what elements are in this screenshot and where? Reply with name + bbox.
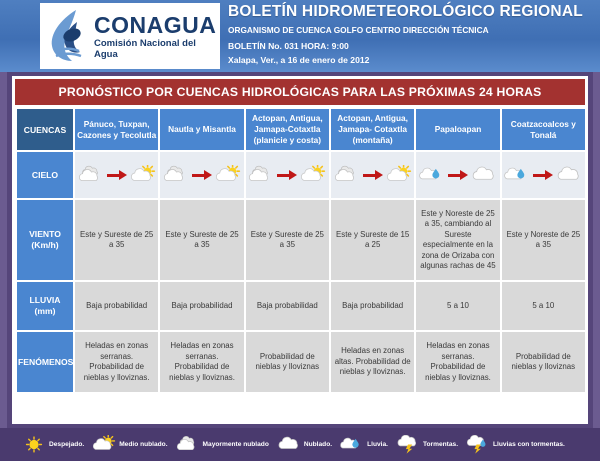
partly-sunny-icon	[386, 165, 412, 185]
cielo-cell-4	[331, 152, 414, 198]
row-lluvia: LLUVIA (mm) Baja probabilidad Baja proba…	[17, 282, 585, 330]
column-header-actopan-montana: Actopan, Antigua, Jamapa- Cotaxtla (mont…	[331, 109, 414, 150]
row-label-cielo: CIELO	[17, 152, 73, 198]
logo-title: CONAGUA	[94, 13, 220, 37]
transition-arrow-icon	[277, 170, 297, 180]
cielo-cell-2	[160, 152, 243, 198]
sky-pair-5	[418, 165, 497, 185]
mostly-cloudy-icon	[334, 165, 360, 185]
transition-arrow-icon	[533, 170, 553, 180]
fenomenos-cell-1: Heladas en zonas serranas. Probabilidad …	[75, 332, 158, 392]
rain-icon	[504, 165, 530, 185]
cielo-cell-3	[246, 152, 329, 198]
lluvia-cell-6: 5 a 10	[502, 282, 585, 330]
lluvia-cell-4: Baja probabilidad	[331, 282, 414, 330]
bulletin-number-line: BOLETÍN No. 031 HORA: 9:00	[228, 40, 596, 53]
lluvia-cell-3: Baja probabilidad	[246, 282, 329, 330]
conagua-logo: CONAGUA Comisión Nacional del Agua	[40, 3, 220, 69]
lluvia-cell-5: 5 a 10	[416, 282, 499, 330]
right-purple-edge	[593, 72, 600, 428]
row-label-viento: VIENTO (Km/h)	[17, 200, 73, 280]
legend-item-thunderstorm: Tormentas.	[396, 435, 458, 454]
partly-sunny-icon	[300, 165, 326, 185]
forecast-panel: PRONÓSTICO POR CUENCAS HIDROLÓGICAS PARA…	[12, 76, 588, 424]
legend-label: Mayormente nublado	[203, 441, 269, 448]
legend-item-rain-thunderstorm: Lluvias con tormentas.	[466, 435, 565, 454]
row-cielo: CIELO	[17, 152, 585, 198]
cloudy-icon	[556, 165, 582, 185]
legend-label: Nublado.	[304, 441, 332, 448]
fenomenos-cell-4: Heladas en zonas altas. Probabilidad de …	[331, 332, 414, 392]
thunderstorm-icon	[396, 435, 420, 454]
sky-pair-1	[77, 165, 156, 185]
legend-bar: Despejado.Medio nublado.Mayormente nubla…	[0, 428, 600, 461]
row-label-viento-line1: VIENTO	[18, 229, 72, 240]
forecast-table: CUENCAS Pánuco, Tuxpan, Cazones y Tecolu…	[15, 107, 587, 394]
logo-subtitle: Comisión Nacional del Agua	[94, 38, 220, 60]
row-viento: VIENTO (Km/h) Este y Sureste de 25 a 35 …	[17, 200, 585, 280]
sunny-icon	[22, 435, 46, 454]
legend-label: Lluvias con tormentas.	[493, 441, 565, 448]
legend-label: Lluvia.	[367, 441, 388, 448]
sky-pair-2	[162, 165, 241, 185]
row-label-lluvia: LLUVIA (mm)	[17, 282, 73, 330]
page-banner: CONAGUA Comisión Nacional del Agua BOLET…	[0, 0, 600, 72]
partly-sunny-icon	[215, 165, 241, 185]
forecast-field: PRONÓSTICO POR CUENCAS HIDROLÓGICAS PARA…	[0, 72, 600, 428]
viento-cell-5: Este y Noreste de 25 a 35, cambiando al …	[416, 200, 499, 280]
mostly-cloudy-icon	[163, 165, 189, 185]
lluvia-cell-2: Baja probabilidad	[160, 282, 243, 330]
viento-cell-6: Este y Noreste de 25 a 35	[502, 200, 585, 280]
legend-label: Tormentas.	[423, 441, 458, 448]
rain-thunderstorm-icon	[466, 435, 490, 454]
legend-item-mostly-cloudy: Mayormente nublado	[176, 435, 269, 454]
viento-cell-2: Este y Sureste de 25 a 35	[160, 200, 243, 280]
sky-pair-6	[504, 165, 583, 185]
forecast-title-bar: PRONÓSTICO POR CUENCAS HIDROLÓGICAS PARA…	[15, 79, 585, 105]
bulletin-page: CONAGUA Comisión Nacional del Agua BOLET…	[0, 0, 600, 461]
mostly-cloudy-icon	[248, 165, 274, 185]
cloudy-icon	[277, 435, 301, 454]
row-label-viento-line2: (Km/h)	[18, 240, 72, 251]
banner-text-block: BOLETÍN HIDROMETEOROLÓGICO REGIONAL ORGA…	[228, 2, 596, 67]
legend-item-cloudy: Nublado.	[277, 435, 332, 454]
fenomenos-cell-6: Probabilidad de nieblas y lloviznas	[502, 332, 585, 392]
cielo-cell-1	[75, 152, 158, 198]
lluvia-cell-1: Baja probabilidad	[75, 282, 158, 330]
column-header-coatzacoalcos: Coatzacoalcos y Tonalá	[502, 109, 585, 150]
legend-item-partly-sunny: Medio nublado.	[92, 435, 167, 454]
mostly-cloudy-icon	[176, 435, 200, 454]
cielo-cell-5	[416, 152, 499, 198]
logo-text-block: CONAGUA Comisión Nacional del Agua	[94, 13, 220, 60]
legend-label: Despejado.	[49, 441, 84, 448]
column-header-actopan-planicie: Actopan, Antigua, Jamapa-Cotaxtla (plani…	[246, 109, 329, 150]
viento-cell-4: Este y Sureste de 15 a 25	[331, 200, 414, 280]
water-drop-eagle-logo-icon	[46, 8, 92, 64]
page-title: BOLETÍN HIDROMETEOROLÓGICO REGIONAL	[228, 2, 596, 22]
mostly-cloudy-icon	[78, 165, 104, 185]
fenomenos-cell-2: Heladas en zonas serranas. Probabilidad …	[160, 332, 243, 392]
left-purple-edge	[0, 72, 7, 428]
cielo-cell-6	[502, 152, 585, 198]
fenomenos-cell-3: Probabilidad de nieblas y lloviznas	[246, 332, 329, 392]
rain-icon	[340, 435, 364, 454]
column-header-panuco: Pánuco, Tuxpan, Cazones y Tecolutla	[75, 109, 158, 150]
transition-arrow-icon	[107, 170, 127, 180]
transition-arrow-icon	[363, 170, 383, 180]
fenomenos-cell-5: Heladas en zonas serranas. Probabilidad …	[416, 332, 499, 392]
table-corner-cuencas: CUENCAS	[17, 109, 73, 150]
place-date-line: Xalapa, Ver., a 16 de enero de 2012	[228, 54, 596, 67]
transition-arrow-icon	[192, 170, 212, 180]
viento-cell-3: Este y Sureste de 25 a 35	[246, 200, 329, 280]
row-fenomenos: FENÓMENOS Heladas en zonas serranas. Pro…	[17, 332, 585, 392]
row-label-lluvia-line2: (mm)	[18, 306, 72, 317]
cloudy-icon	[471, 165, 497, 185]
sky-pair-3	[248, 165, 327, 185]
viento-cell-1: Este y Sureste de 25 a 35	[75, 200, 158, 280]
rain-icon	[419, 165, 445, 185]
row-label-lluvia-line1: LLUVIA	[18, 295, 72, 306]
column-header-papaloapan: Papaloapan	[416, 109, 499, 150]
partly-sunny-icon	[130, 165, 156, 185]
legend-label: Medio nublado.	[119, 441, 167, 448]
row-label-fenomenos: FENÓMENOS	[17, 332, 73, 392]
sky-pair-4	[333, 165, 412, 185]
table-header-row: CUENCAS Pánuco, Tuxpan, Cazones y Tecolu…	[17, 109, 585, 150]
legend-item-sunny: Despejado.	[22, 435, 84, 454]
transition-arrow-icon	[448, 170, 468, 180]
column-header-nautla: Nautla y Misantla	[160, 109, 243, 150]
partly-sunny-icon	[92, 435, 116, 454]
organization-line: ORGANISMO DE CUENCA GOLFO CENTRO DIRECCI…	[228, 24, 596, 37]
legend-item-rain: Lluvia.	[340, 435, 388, 454]
